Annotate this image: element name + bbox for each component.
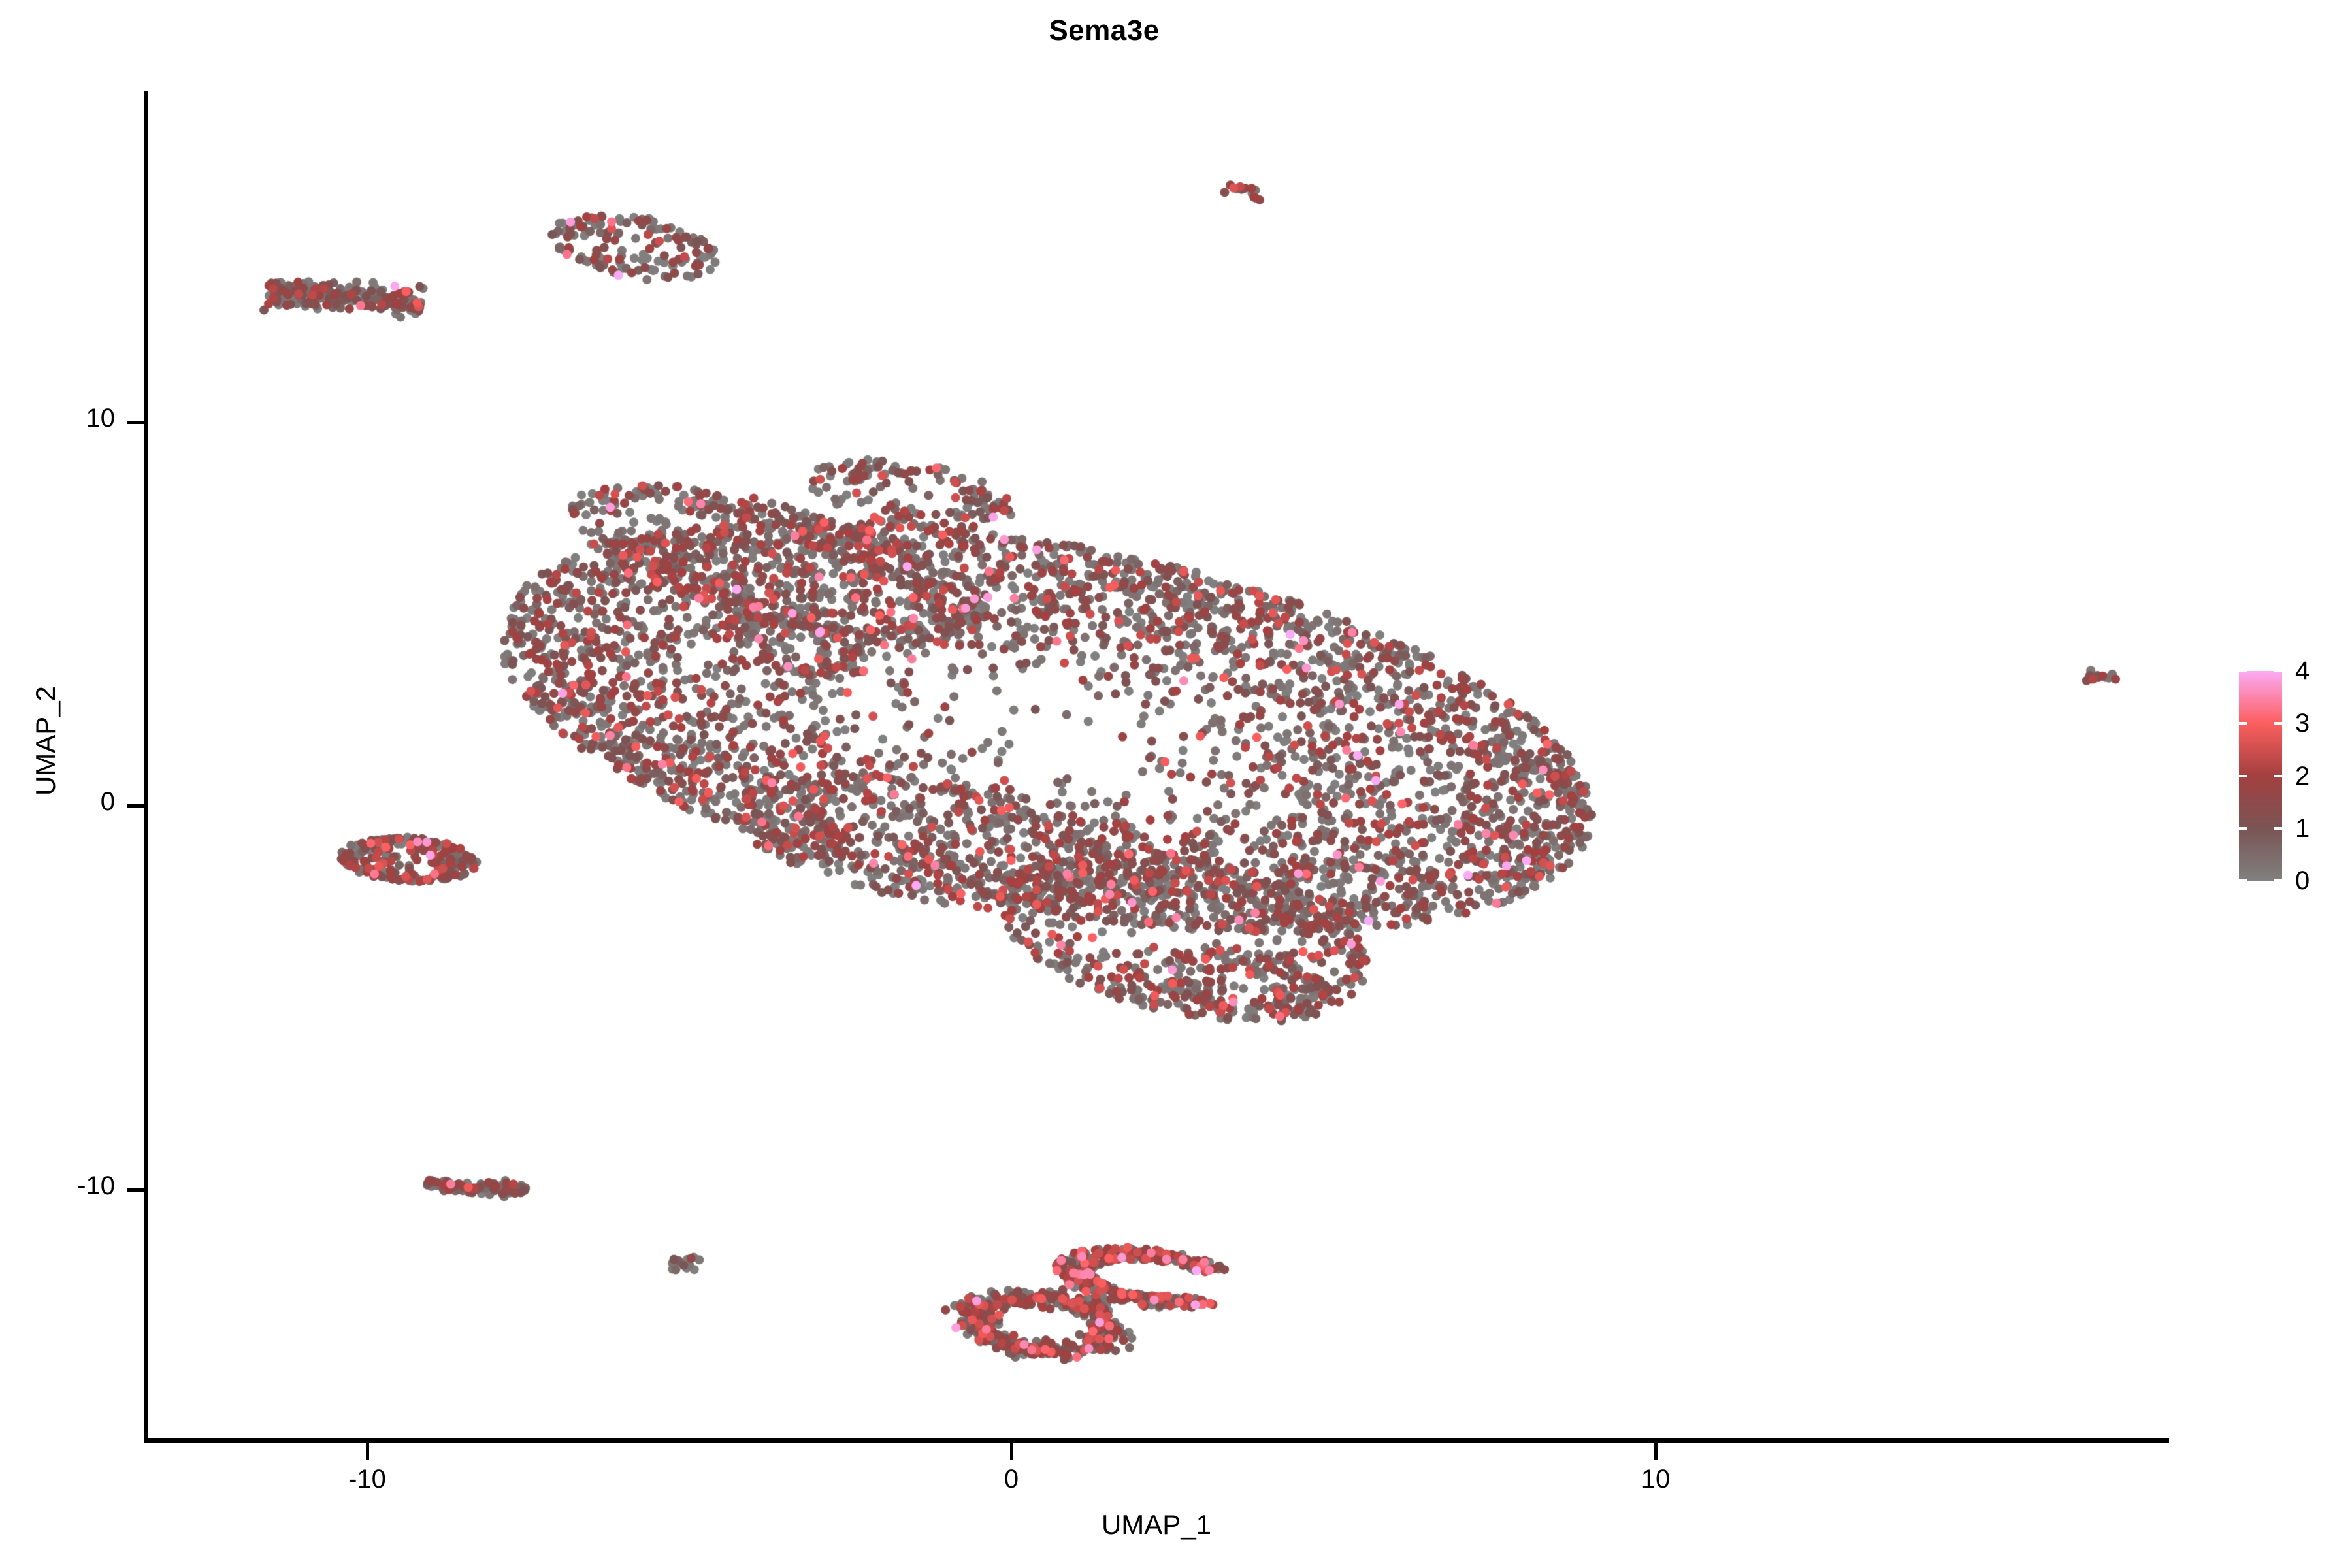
legend-tick-mark <box>2274 670 2282 672</box>
legend-label: 0 <box>2295 868 2310 894</box>
y-tick-mark <box>127 804 144 808</box>
x-tick-mark <box>1010 1443 1013 1460</box>
y-axis-line <box>144 91 148 1443</box>
legend-tick-mark <box>2274 775 2282 777</box>
y-tick-mark <box>127 1188 144 1192</box>
x-axis-title: UMAP_1 <box>144 1509 2169 1541</box>
legend-tick-mark <box>2239 722 2247 725</box>
scatter-canvas <box>0 0 2352 1568</box>
feature-plot-root: Sema3e -10010 -10010 UMAP_1 UMAP_2 01234 <box>0 0 2352 1568</box>
legend-label: 2 <box>2295 763 2310 789</box>
legend-tick-mark <box>2239 879 2247 882</box>
legend-label: 4 <box>2295 658 2310 684</box>
legend-tick-mark <box>2274 879 2282 882</box>
x-tick-label: 0 <box>946 1465 1077 1494</box>
legend-tick-mark <box>2274 827 2282 830</box>
x-tick-label: 10 <box>1590 1465 1721 1494</box>
y-axis-title: UMAP_2 <box>30 447 61 1035</box>
x-tick-mark <box>1654 1443 1658 1460</box>
legend-tick-mark <box>2239 775 2247 777</box>
legend-tick-mark <box>2274 722 2282 725</box>
legend-tick-mark <box>2239 827 2247 830</box>
color-legend[interactable]: 01234 <box>2239 671 2282 881</box>
legend-label: 3 <box>2295 710 2310 736</box>
legend-label: 1 <box>2295 815 2310 841</box>
x-tick-label: -10 <box>302 1465 433 1494</box>
legend-tick-mark <box>2239 670 2247 672</box>
x-axis-line <box>144 1438 2169 1443</box>
y-tick-label: -10 <box>0 1171 115 1201</box>
x-tick-mark <box>366 1443 369 1460</box>
y-tick-mark <box>127 421 144 424</box>
page-title: Sema3e <box>0 14 2208 47</box>
y-tick-label: 10 <box>0 404 115 433</box>
